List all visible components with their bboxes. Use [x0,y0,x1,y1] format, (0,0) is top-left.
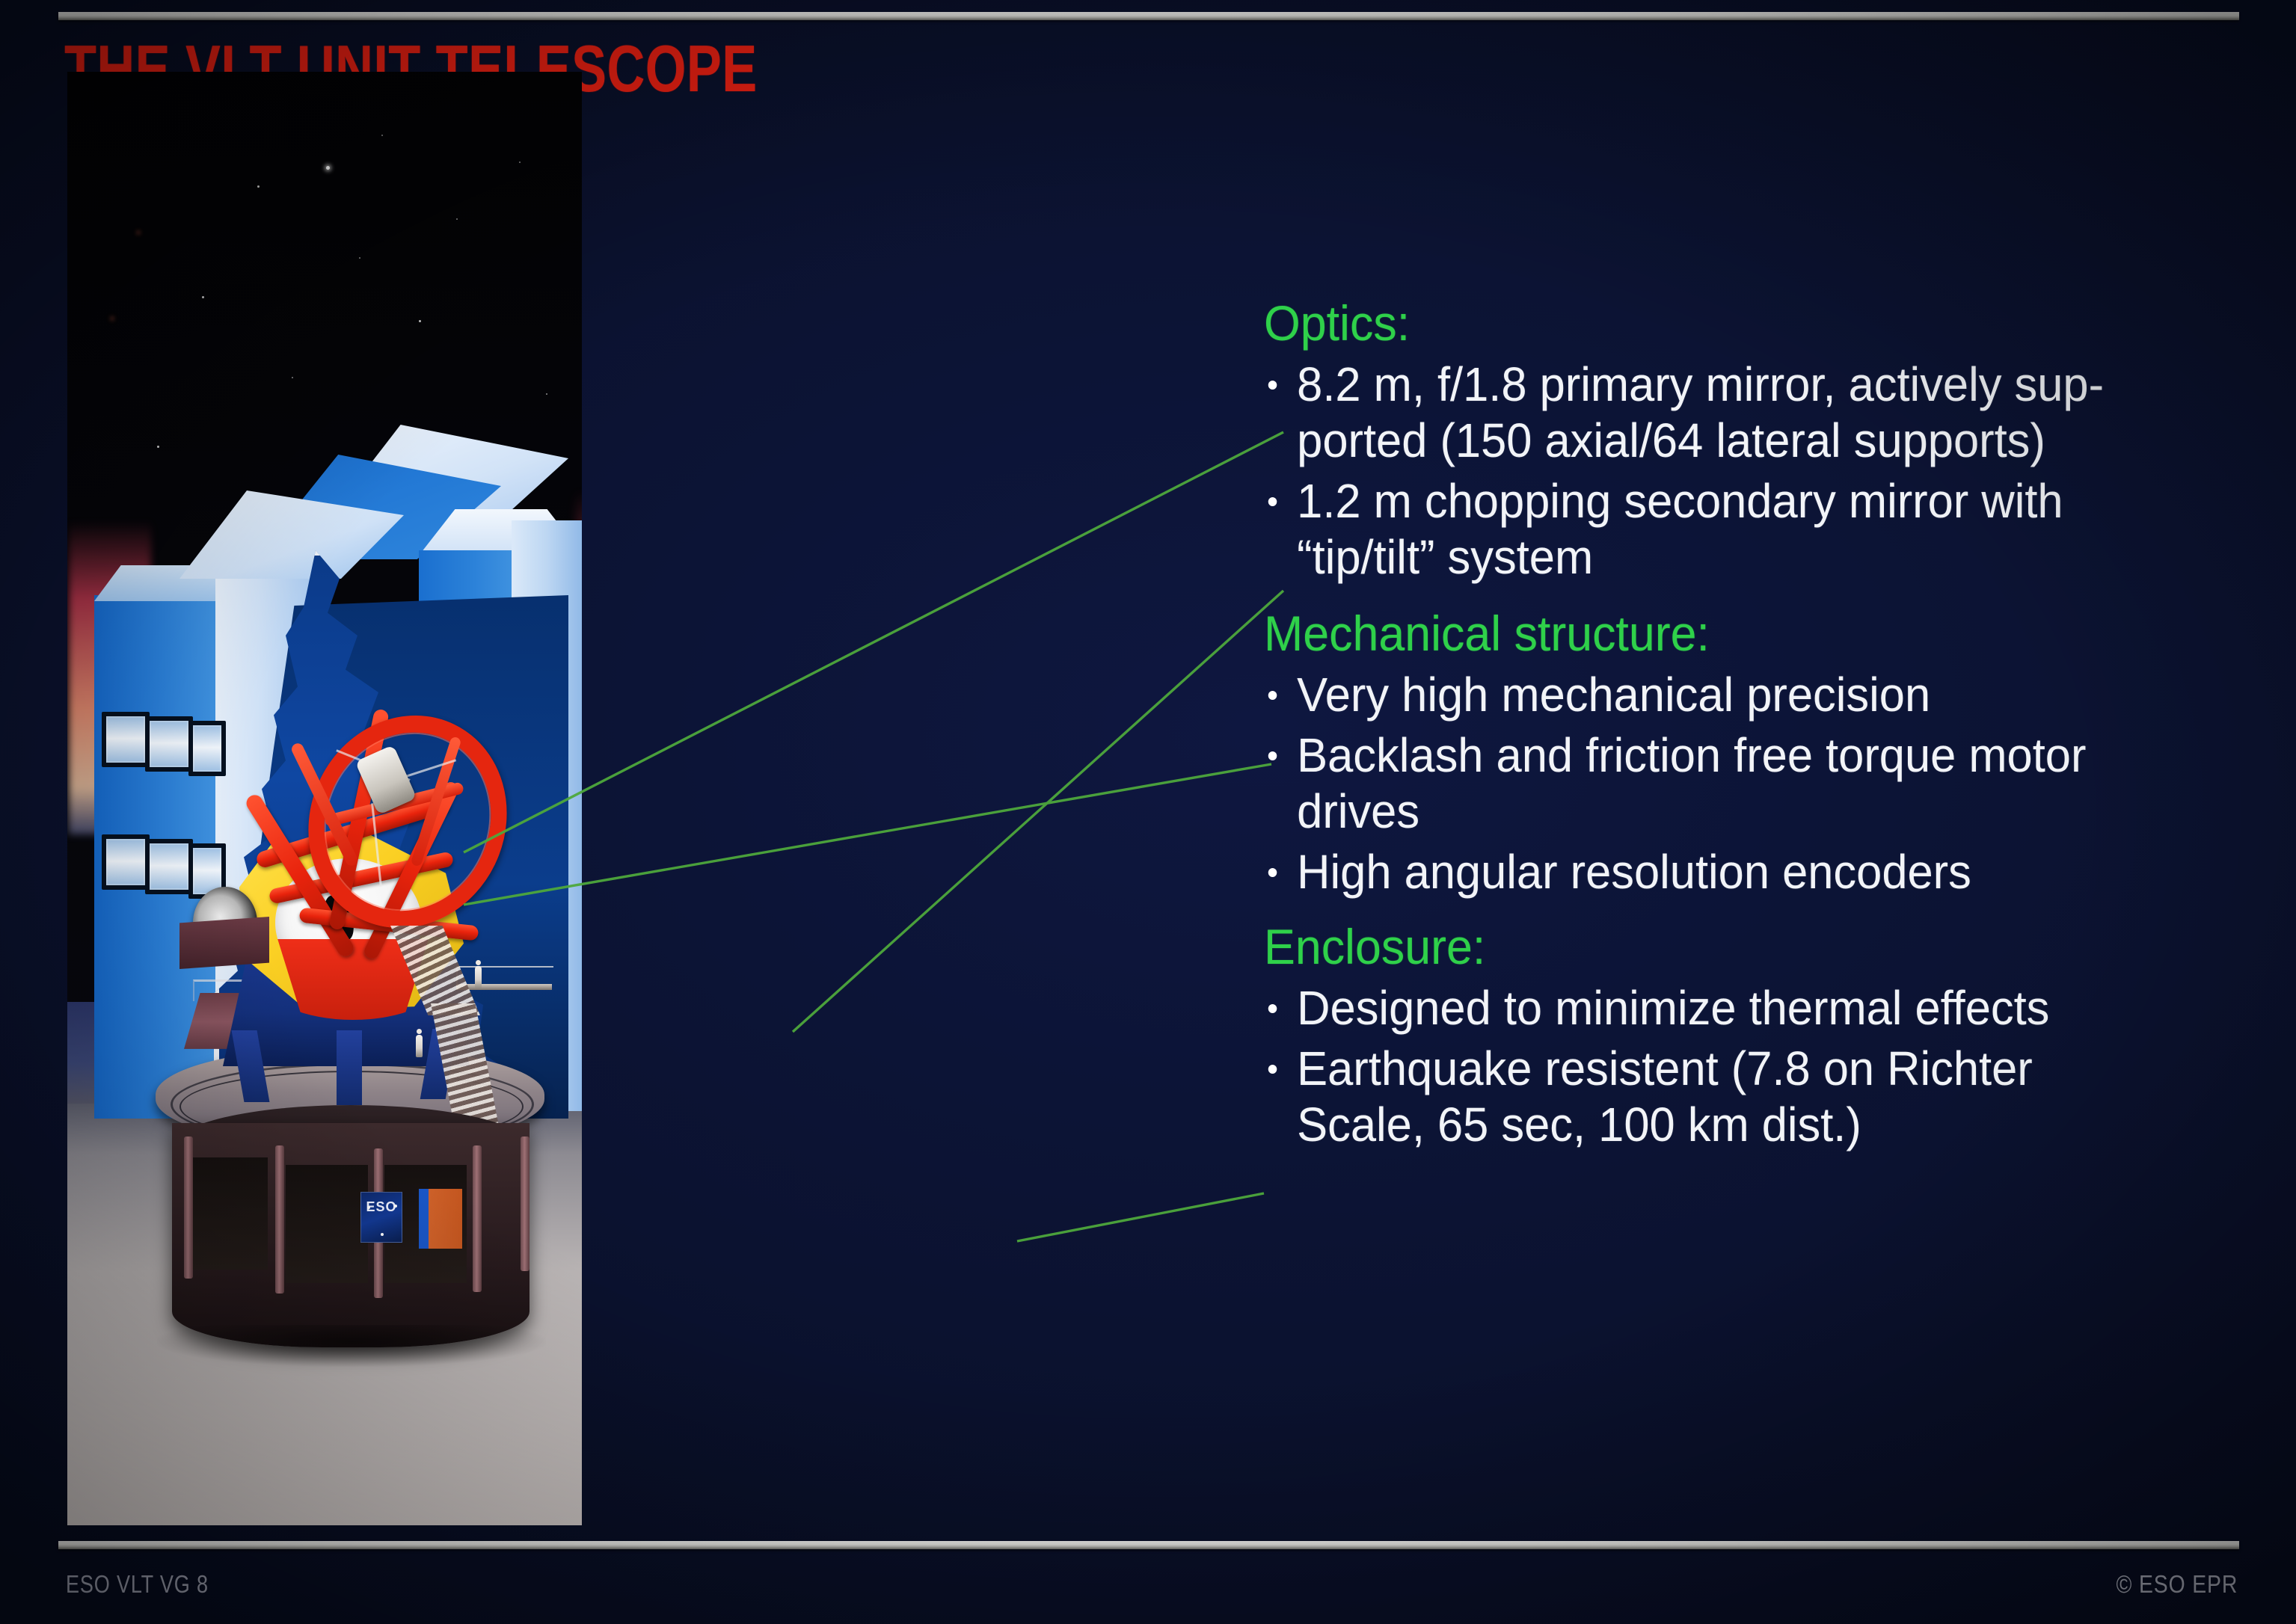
leader-line-primary-mirror [464,432,1283,852]
pier-column [184,1137,193,1279]
enclosure-window [102,834,150,890]
pier-shadow [157,1325,546,1367]
pier-column [521,1137,530,1271]
bullet-list-optics: 8.2 m, f/1.8 primary mirror, actively su… [1264,357,2251,585]
bullet-line: Backlash and friction free torque motor [1297,728,2086,782]
bullet-list-mechanical-structure: Very high mechanical precision Backlash … [1264,667,2251,900]
pier-column [275,1145,284,1294]
top-divider-rule [58,12,2239,20]
star-icon [519,162,521,163]
pier-door [419,1189,462,1249]
list-item: 1.2 m chopping secondary mirror with “ti… [1264,473,2211,585]
list-item: Designed to minimize thermal effects [1264,980,2211,1036]
star-icon [326,166,330,170]
star-icon [419,320,421,322]
list-item: Earthquake resistent (7.8 on Richter Sca… [1264,1041,2211,1153]
mount-leg [337,1030,362,1105]
star-icon [359,257,360,259]
star-icon [546,393,547,395]
enclosure-window [102,712,150,767]
bullet-line: Very high mechanical precision [1297,668,1930,722]
section-heading-mechanical-structure: Mechanical structure: [1264,608,2202,659]
bullet-list-enclosure: Designed to minimize thermal effects Ear… [1264,980,2251,1153]
list-item: 8.2 m, f/1.8 primary mirror, actively su… [1264,357,2211,469]
list-item: High angular resolution encoders [1264,844,2211,900]
leader-line-enclosure [1017,1193,1264,1241]
bullet-line: “tip/tilt” system [1297,530,1593,584]
eso-logo-sign: ESO [360,1192,402,1243]
bullet-line: drives [1297,784,1419,838]
pier-column [473,1145,482,1292]
section-heading-optics: Optics: [1264,298,2202,349]
logo-star-icon [394,1205,397,1208]
specifications-text-column: Optics: 8.2 m, f/1.8 primary mirror, act… [1264,298,2251,1180]
pier-bay [286,1165,368,1283]
star-icon [292,377,293,378]
person-figure [416,1035,423,1057]
catwalk-handrail [456,966,553,987]
bullet-line: 1.2 m chopping secondary mirror with [1297,474,2063,528]
list-item: Backlash and friction free torque motor … [1264,728,2211,840]
bullet-line: Scale, 65 sec, 100 km dist.) [1297,1098,1861,1151]
star-icon [257,185,260,188]
star-icon [456,218,458,220]
bullet-line: ported (150 axial/64 lateral supports) [1297,413,2045,467]
bullet-line: High angular resolution encoders [1297,845,1971,899]
bullet-line: Earthquake resistent (7.8 on Richter [1297,1042,2033,1095]
section-mechanical-structure: Mechanical structure: Very high mechanic… [1264,608,2251,900]
logo-star-icon [381,1233,384,1236]
slide-root: THE VLT UNIT TELESCOPE [0,0,2296,1624]
footer-reference-label: ESO VLT VG 8 [66,1570,209,1599]
section-optics: Optics: 8.2 m, f/1.8 primary mirror, act… [1264,298,2251,585]
unit-telescope-assembly [179,692,568,1111]
bullet-line: Designed to minimize thermal effects [1297,981,2049,1035]
list-item: Very high mechanical precision [1264,667,2211,723]
leader-line-secondary-mirror [793,591,1283,1032]
logo-star-icon [367,1206,370,1209]
person-figure [475,966,482,988]
telescope-illustration: ESO [67,72,582,1525]
bullet-line: 8.2 m, f/1.8 primary mirror, actively su… [1297,357,2104,411]
star-icon [202,296,204,298]
section-enclosure: Enclosure: Designed to minimize thermal … [1264,921,2251,1153]
leader-line-mechanical-structure [464,764,1271,905]
footer-copyright-label: © ESO EPR [2116,1570,2238,1599]
instrument-bench [179,917,269,969]
star-icon [381,135,383,136]
bottom-divider-rule [58,1541,2239,1549]
section-heading-enclosure: Enclosure: [1264,921,2202,973]
star-icon [157,446,159,448]
pier-bay [193,1157,268,1270]
